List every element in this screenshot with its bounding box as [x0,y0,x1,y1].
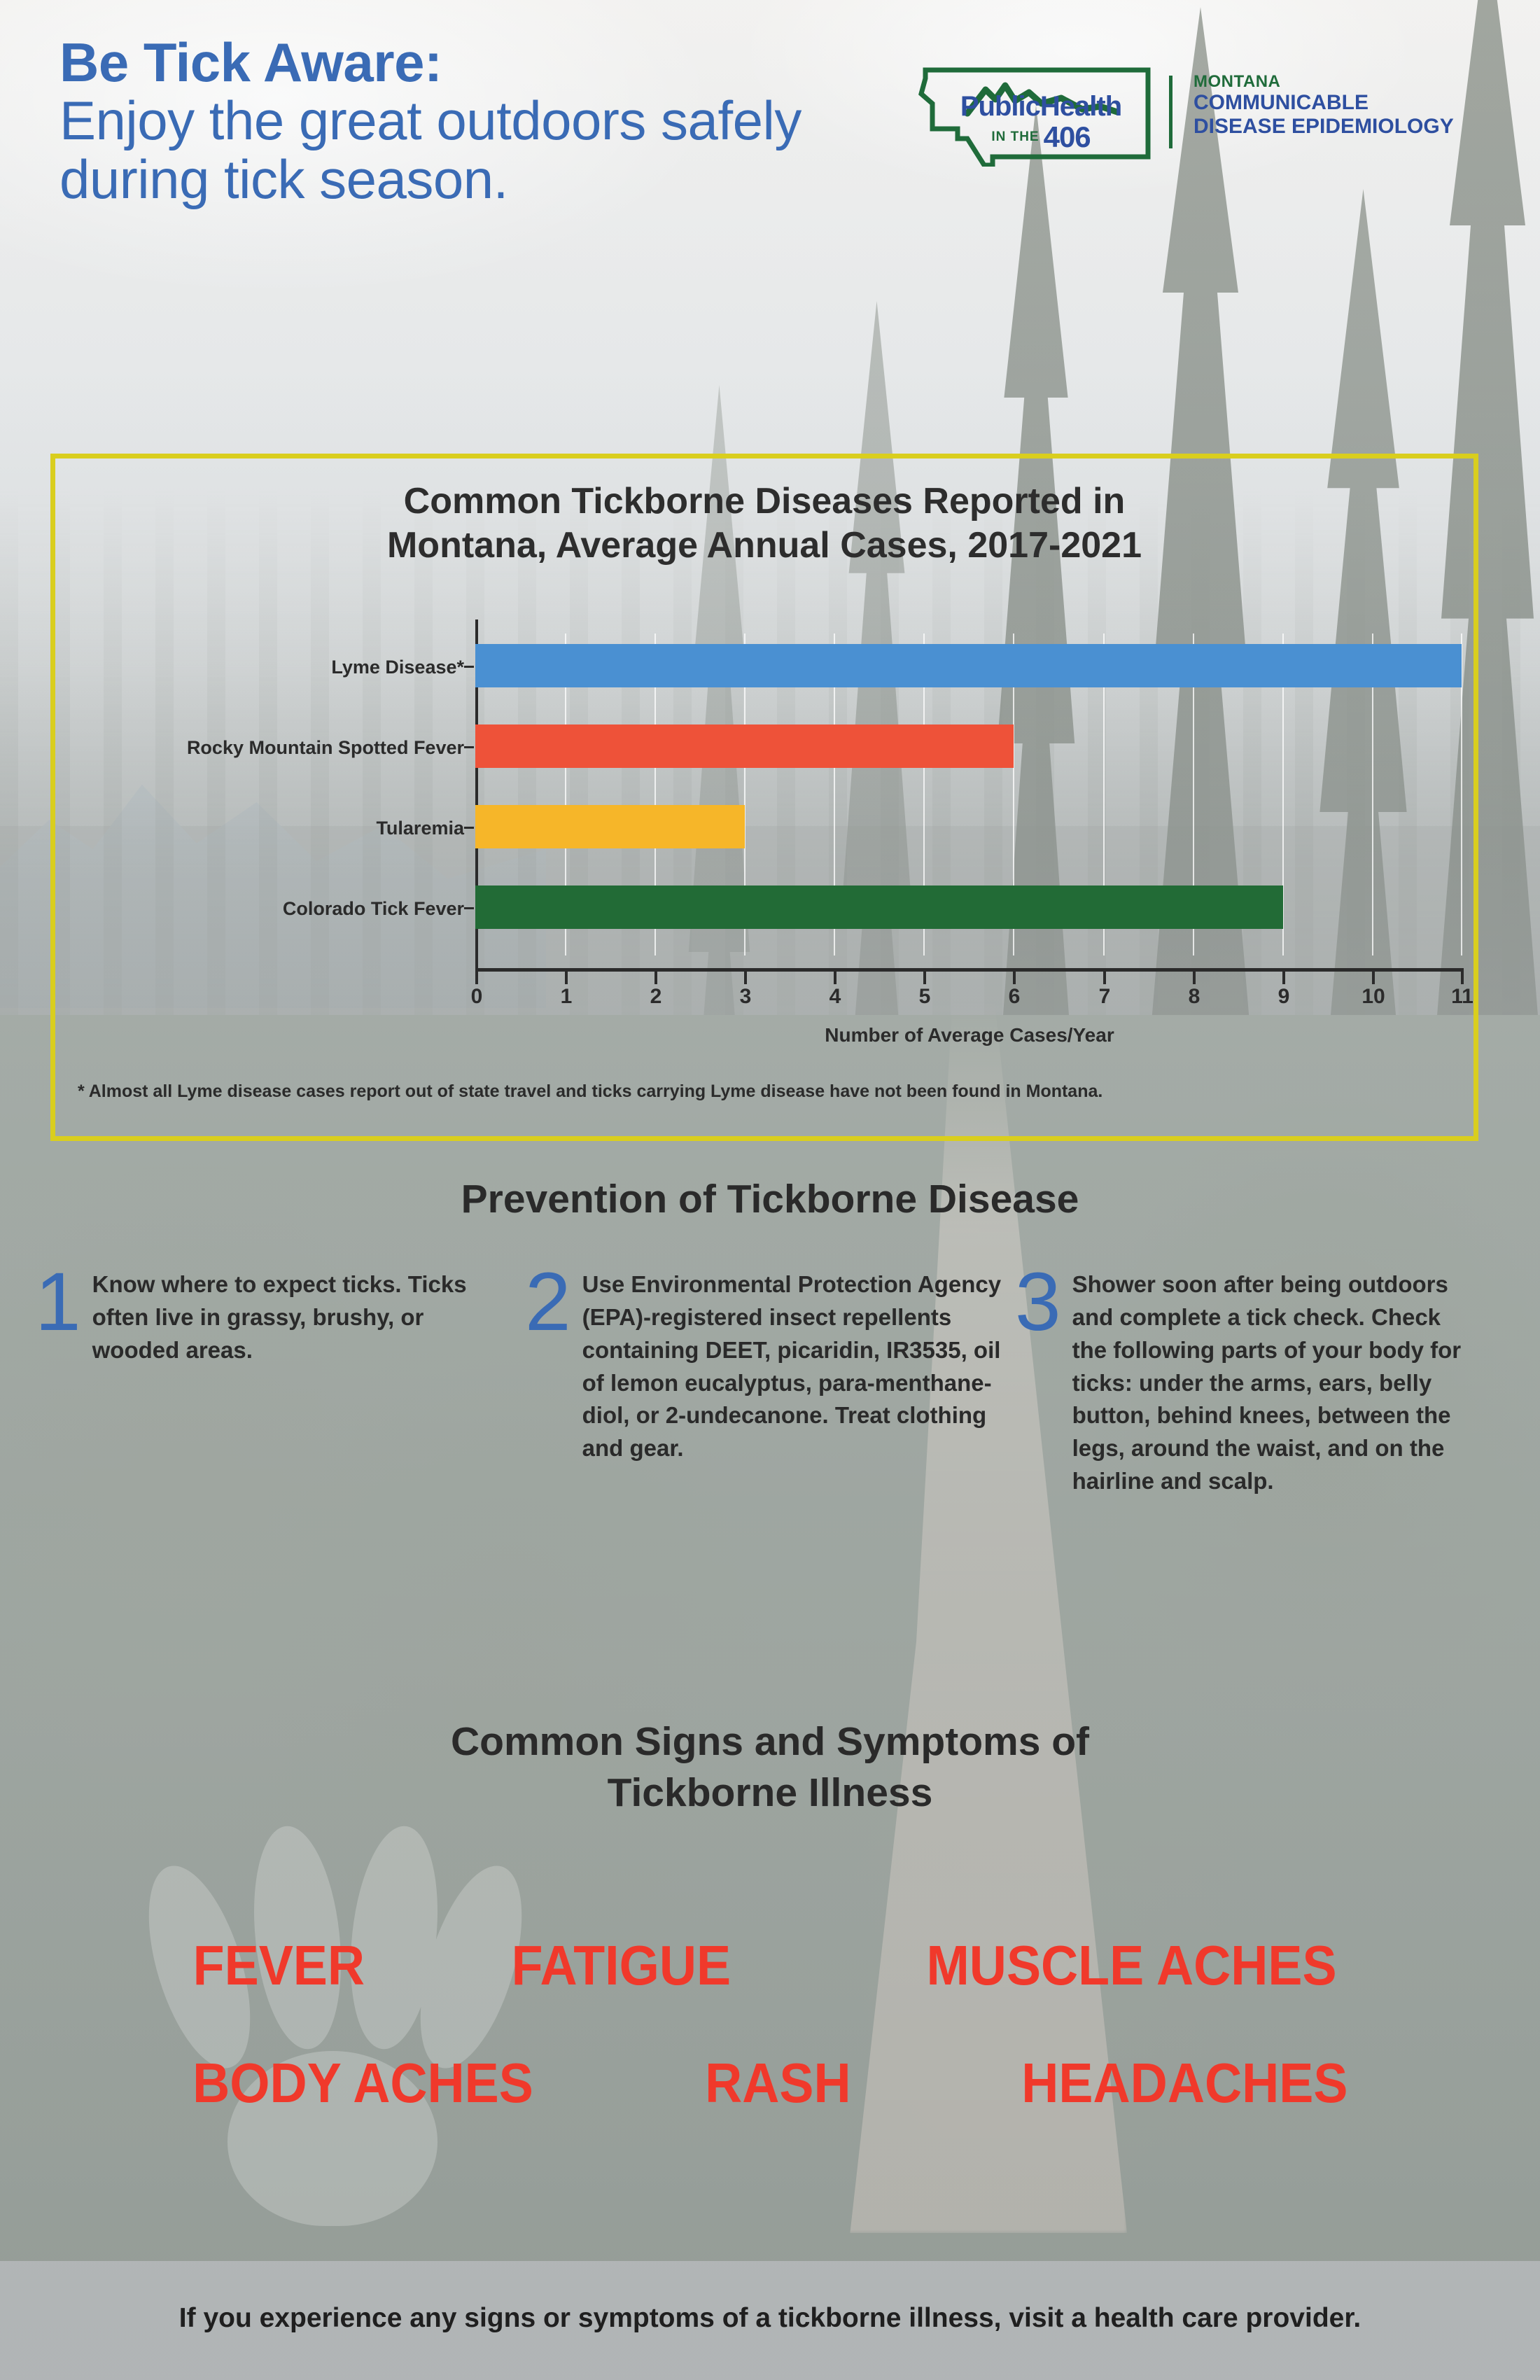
prevention-steps: 1 Know where to expect ticks. Ticks ofte… [35,1268,1505,1498]
x-tick-label: 3 [717,985,773,1009]
symptom-fatigue: FATIGUE [512,1933,731,1998]
chart-footnote: * Almost all Lyme disease cases report o… [78,1081,1459,1102]
x-tick-label: 9 [1256,985,1312,1009]
bar-chart-plot: Lyme Disease* Rocky Mountain Spotted Fev… [475,633,1462,955]
x-axis-line [475,968,1464,972]
x-tick-mark [654,972,657,984]
logo-program-block: MONTANA COMMUNICABLE DISEASE EPIDEMIOLOG… [1193,73,1454,139]
page-title: Be Tick Aware: Enjoy the great outdoors … [59,34,899,209]
y-tick-label-rocky-mountain-spotted-fever: Rocky Mountain Spotted Fever [30,737,464,759]
footer-advice: If you experience any signs or symptoms … [0,2303,1540,2334]
y-tick-mark [464,907,474,909]
headline-line-2: Enjoy the great outdoors safely during t… [59,92,899,209]
y-tick-mark [464,746,474,748]
step-text-1: Know where to expect ticks. Ticks often … [92,1268,470,1367]
step-text-2: Use Environmental Protection Agency (EPA… [582,1268,1002,1465]
symptom-rash: RASH [705,2051,851,2115]
logo-wordmark: PublicHealth IN THE406 [946,92,1135,154]
x-tick-mark [475,972,478,984]
step-number-1: 1 [35,1268,81,1336]
logo-program-line-1: COMMUNICABLE [1193,91,1454,115]
prevention-step-2: 2 Use Environmental Protection Agency (E… [525,1268,1015,1498]
bar-tularemia [475,805,745,848]
symptom-body-aches: BODY ACHES [192,2051,533,2115]
x-tick-label: 6 [986,985,1042,1009]
prevention-step-1: 1 Know where to expect ticks. Ticks ofte… [35,1268,525,1498]
step-text-3: Shower soon after being outdoors and com… [1072,1268,1478,1498]
x-tick-label: 11 [1434,985,1490,1009]
logo-state-text: MONTANA [1193,73,1454,91]
bar-lyme-disease [475,644,1462,687]
x-tick-label: 1 [538,985,594,1009]
logo-inthe-text: IN THE [991,129,1039,145]
x-tick-label: 10 [1345,985,1401,1009]
symptoms-title-line-2: Tickborne Illness [0,1767,1540,1819]
x-tick-mark [923,972,926,984]
x-tick-label: 5 [897,985,953,1009]
x-tick-label: 4 [807,985,863,1009]
x-tick-label: 7 [1077,985,1133,1009]
x-tick-mark [1282,972,1285,984]
bar-colorado-tick-fever [475,885,1283,929]
chart-title: Common Tickborne Diseases Reported in Mo… [55,479,1473,568]
chart-title-line-1: Common Tickborne Diseases Reported in [160,479,1368,524]
y-tick-label-lyme-disease: Lyme Disease* [30,657,464,678]
bar-rocky-mountain-spotted-fever [475,724,1014,768]
x-tick-mark [1193,972,1196,984]
x-axis-title: Number of Average Cases/Year [475,1024,1464,1046]
symptoms-title-line-1: Common Signs and Symptoms of [0,1716,1540,1767]
y-tick-mark [464,827,474,829]
y-tick-label-colorado-tick-fever: Colorado Tick Fever [30,898,464,920]
symptoms-section-title: Common Signs and Symptoms of Tickborne I… [0,1716,1540,1819]
symptom-fever: FEVER [193,1933,365,1998]
x-tick-label: 2 [628,985,684,1009]
prevention-section-title: Prevention of Tickborne Disease [0,1176,1540,1222]
y-tick-mark [464,666,474,668]
symptom-muscle-aches: MUSCLE ACHES [926,1933,1336,1998]
x-tick-mark [1103,972,1106,984]
x-tick-mark [565,972,568,984]
step-number-2: 2 [525,1268,571,1336]
step-number-3: 3 [1015,1268,1061,1336]
x-tick-label: 0 [449,985,505,1009]
logo-406-text: 406 [1044,120,1091,154]
logo-program-line-2: DISEASE EPIDEMIOLOGY [1193,115,1454,139]
x-tick-mark [1013,972,1016,984]
x-tick-mark [1461,972,1464,984]
logo-publichealth-text: PublicHealth [946,92,1135,120]
chart-title-line-2: Montana, Average Annual Cases, 2017-2021 [160,524,1368,568]
x-tick-mark [744,972,747,984]
symptom-headaches: HEADACHES [1022,2051,1348,2115]
x-tick-label: 8 [1166,985,1222,1009]
symptoms-row-1: FEVER FATIGUE MUSCLE ACHES [0,1933,1540,1998]
x-tick-mark [834,972,836,984]
x-tick-mark [1372,972,1375,984]
symptoms-row-2: BODY ACHES RASH HEADACHES [0,2051,1540,2115]
prevention-step-3: 3 Shower soon after being outdoors and c… [1015,1268,1505,1498]
chart-card: Common Tickborne Diseases Reported in Mo… [50,454,1478,1141]
headline-line-1: Be Tick Aware: [59,34,899,92]
logo-divider [1169,76,1172,148]
y-tick-label-tularemia: Tularemia [30,818,464,839]
agency-logo: PublicHealth IN THE406 MONTANA COMMUNICA… [910,56,1484,168]
